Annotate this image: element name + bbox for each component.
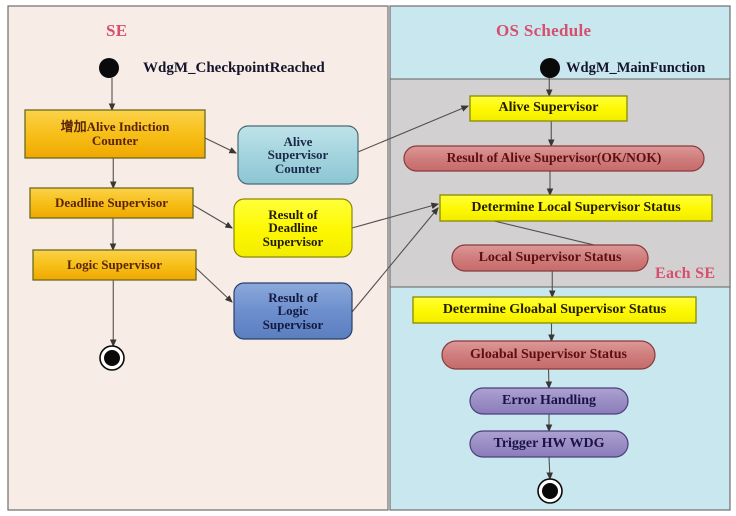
each-se-region-title: Each SE xyxy=(655,265,715,283)
node-alive-supervisor-counter[interactable] xyxy=(238,126,358,184)
node-result-of-deadline[interactable] xyxy=(234,199,352,257)
se-entry-label: WdgM_CheckpointReached xyxy=(143,60,325,77)
node-determine-local-status[interactable] xyxy=(440,195,712,221)
node-deadline-supervisor[interactable] xyxy=(30,188,193,218)
node-error-handling[interactable] xyxy=(470,388,628,414)
node-determine-global-status[interactable] xyxy=(413,297,696,323)
node-result-of-logic[interactable] xyxy=(234,283,352,339)
node-local-supervisor-status[interactable] xyxy=(452,245,648,271)
node-increase-alive-counter[interactable] xyxy=(25,110,205,158)
se-end-node xyxy=(104,350,120,366)
os-end-node xyxy=(542,483,558,499)
diagram-svg xyxy=(0,0,736,516)
se-entry-node xyxy=(99,58,119,78)
se-panel-title: SE xyxy=(106,21,127,41)
node-global-supervisor-status[interactable] xyxy=(442,341,655,369)
node-alive-supervisor[interactable] xyxy=(470,96,627,121)
os-panel-title: OS Schedule xyxy=(496,21,591,41)
node-result-alive-oknok[interactable] xyxy=(404,146,704,171)
os-entry-node xyxy=(540,58,560,78)
diagram-canvas: SE OS Schedule Each SE WdgM_CheckpointRe… xyxy=(0,0,736,516)
node-logic-supervisor[interactable] xyxy=(33,250,196,280)
edge-global-status-to-error xyxy=(549,369,550,388)
node-trigger-hw-wdg[interactable] xyxy=(470,431,628,457)
os-entry-label: WdgM_MainFunction xyxy=(566,60,705,77)
